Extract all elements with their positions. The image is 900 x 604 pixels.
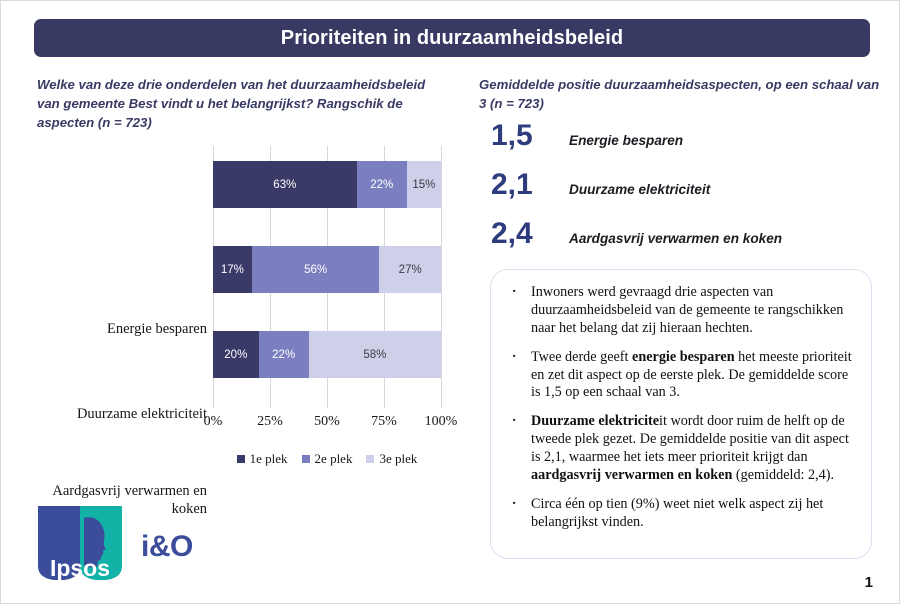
bar-segment-label: 27%: [399, 264, 422, 276]
ipsos-shield-icon: Ipsos: [34, 504, 126, 582]
bar-segment-label: 15%: [412, 179, 435, 191]
score-row: 2,1Duurzame elektriciteit: [491, 168, 886, 217]
bar-row: 20%22%58%: [213, 331, 441, 378]
x-axis-tick-label: 0%: [204, 414, 223, 430]
commentary-bullet-list: Inwoners werd gevraagd drie aspecten van…: [501, 284, 855, 532]
bullet-emphasis: aardgasvrij verwarmen en koken: [531, 467, 732, 483]
bullet-emphasis: energie besparen: [632, 349, 735, 365]
bar-segment[interactable]: 58%: [309, 331, 441, 378]
x-axis-tick-label: 100%: [425, 414, 458, 430]
page-title: Prioriteiten in duurzaamheidsbeleid: [281, 27, 623, 50]
bar-segment-label: 20%: [224, 349, 247, 361]
bar-segment[interactable]: 22%: [357, 161, 407, 208]
stacked-bar-chart: 63%22%15%17%56%27%20%22%58% Energie besp…: [25, 146, 455, 471]
ipsos-wordmark: Ipsos: [50, 555, 110, 581]
chart-bar-rows: 63%22%15%17%56%27%20%22%58%: [213, 146, 441, 408]
score-row: 1,5Energie besparen: [491, 119, 886, 168]
commentary-bullet: Twee derde geeft energie besparen het me…: [501, 349, 855, 403]
legend-swatch: [237, 455, 245, 463]
legend-label: 1e plek: [250, 451, 288, 467]
score-label: Aardgasvrij verwarmen en koken: [569, 231, 782, 246]
score-value: 2,1: [491, 168, 569, 202]
bar-segment[interactable]: 27%: [379, 246, 441, 293]
legend-swatch: [302, 455, 310, 463]
bar-segment[interactable]: 56%: [252, 246, 380, 293]
legend-item[interactable]: 2e plek: [302, 451, 353, 467]
commentary-box: Inwoners werd gevraagd drie aspecten van…: [490, 269, 872, 559]
bar-segment-label: 17%: [221, 264, 244, 276]
chart-legend: 1e plek2e plek3e plek: [213, 451, 441, 467]
score-value: 2,4: [491, 217, 569, 251]
scores-subtitle: Gemiddelde positie duurzaamheidsaspecten…: [479, 75, 883, 113]
chart-category-label: Energie besparen: [32, 321, 207, 339]
bar-segment-label: 58%: [363, 349, 386, 361]
x-axis-tick-label: 75%: [371, 414, 397, 430]
bar-segment[interactable]: 63%: [213, 161, 357, 208]
x-axis-tick-label: 50%: [314, 414, 340, 430]
bar-segment-label: 63%: [273, 179, 296, 191]
legend-label: 3e plek: [379, 451, 417, 467]
bullet-text: Twee derde geeft: [531, 349, 632, 365]
score-label: Duurzame elektriciteit: [569, 182, 710, 197]
io-partner-wordmark: i&O: [141, 530, 193, 564]
bar-segment[interactable]: 15%: [407, 161, 441, 208]
commentary-bullet: Inwoners werd gevraagd drie aspecten van…: [501, 284, 855, 338]
bullet-text: Inwoners werd gevraagd drie aspecten van…: [531, 284, 843, 336]
bar-segment-label: 56%: [304, 264, 327, 276]
slide-canvas: Prioriteiten in duurzaamheidsbeleid Welk…: [0, 0, 900, 604]
score-row: 2,4Aardgasvrij verwarmen en koken: [491, 217, 886, 266]
bullet-text: (gemiddeld: 2,4).: [732, 467, 834, 483]
bar-row: 17%56%27%: [213, 246, 441, 293]
bar-segment-label: 22%: [370, 179, 393, 191]
commentary-bullet: Duurzame elektriciteit wordt door ruim d…: [501, 413, 855, 485]
average-score-list: 1,5Energie besparen2,1Duurzame elektrici…: [491, 119, 886, 266]
chart-category-label: Duurzame elektriciteit: [32, 406, 207, 424]
page-number: 1: [865, 574, 873, 591]
legend-swatch: [366, 455, 374, 463]
bar-segment-label: 22%: [272, 349, 295, 361]
score-value: 1,5: [491, 119, 569, 153]
commentary-bullet: Circa één op tien (9%) weet niet welk as…: [501, 496, 855, 532]
x-axis-tick-label: 25%: [257, 414, 283, 430]
legend-item[interactable]: 3e plek: [366, 451, 417, 467]
bullet-text: Circa één op tien (9%) weet niet welk as…: [531, 496, 823, 530]
legend-label: 2e plek: [315, 451, 353, 467]
bar-row: 63%22%15%: [213, 161, 441, 208]
chart-plot-area: 63%22%15%17%56%27%20%22%58%: [213, 146, 441, 408]
bar-segment[interactable]: 17%: [213, 246, 252, 293]
score-label: Energie besparen: [569, 133, 683, 148]
bar-segment[interactable]: 20%: [213, 331, 259, 378]
bar-segment[interactable]: 22%: [259, 331, 309, 378]
gridline: [441, 146, 442, 408]
bullet-emphasis: Duurzame elektricite: [531, 413, 659, 429]
chart-question-subtitle: Welke van deze drie onderdelen van het d…: [37, 75, 447, 132]
slide-title-banner: Prioriteiten in duurzaamheidsbeleid: [34, 19, 870, 57]
ipsos-logo: Ipsos i&O: [34, 504, 214, 582]
legend-item[interactable]: 1e plek: [237, 451, 288, 467]
